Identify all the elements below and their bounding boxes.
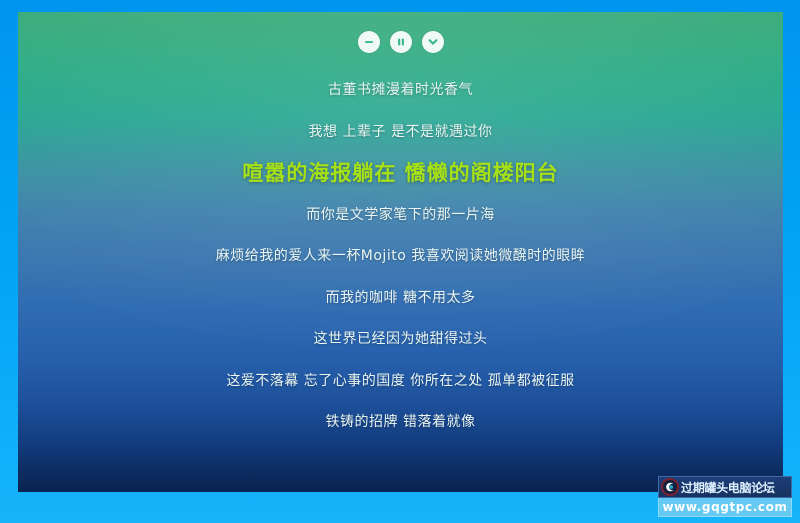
forum-logo-icon (661, 478, 679, 496)
lyric-line[interactable]: 我想 上辈子 是不是就遇过你 (18, 112, 783, 154)
watermark-url: www.gqgtpc.com (658, 498, 792, 517)
watermark: 过期罐头电脑论坛 www.gqgtpc.com (658, 476, 792, 517)
watermark-title: 过期罐头电脑论坛 (681, 479, 775, 496)
lyric-line[interactable]: 这世界已经因为她甜得过头 (18, 319, 783, 361)
lyric-line[interactable]: 这爱不落幕 忘了心事的国度 你所在之处 孤单都被征服 (18, 361, 783, 403)
lyric-line-active[interactable]: 喧嚣的海报躺在 憍懒的阁楼阳台 (18, 153, 783, 195)
lyric-line[interactable]: 而你是文学家笔下的那一片海 (18, 195, 783, 237)
minimize-button[interactable] (358, 31, 380, 53)
minus-circle-icon (362, 35, 376, 49)
lyrics-panel: 古董书摊漫着时光香气 我想 上辈子 是不是就遇过你 喧嚣的海报躺在 憍懒的阁楼阳… (18, 12, 783, 492)
pause-circle-icon (394, 35, 408, 49)
chevron-down-circle-icon (426, 35, 440, 49)
player-control-bar (18, 31, 783, 53)
lyric-line[interactable]: 而我的咖啡 糖不用太多 (18, 278, 783, 320)
lyric-line[interactable]: 铁铸的招牌 错落着就像 (18, 402, 783, 444)
lyrics-list: 古董书摊漫着时光香气 我想 上辈子 是不是就遇过你 喧嚣的海报躺在 憍懒的阁楼阳… (18, 70, 783, 444)
watermark-title-bar: 过期罐头电脑论坛 (658, 476, 792, 498)
lyric-line[interactable]: 麻烦给我的爱人来一杯Mojito 我喜欢阅读她微醗时的眼眸 (18, 236, 783, 278)
lyric-line[interactable]: 古董书摊漫着时光香气 (18, 70, 783, 112)
collapse-button[interactable] (422, 31, 444, 53)
pause-button[interactable] (390, 31, 412, 53)
